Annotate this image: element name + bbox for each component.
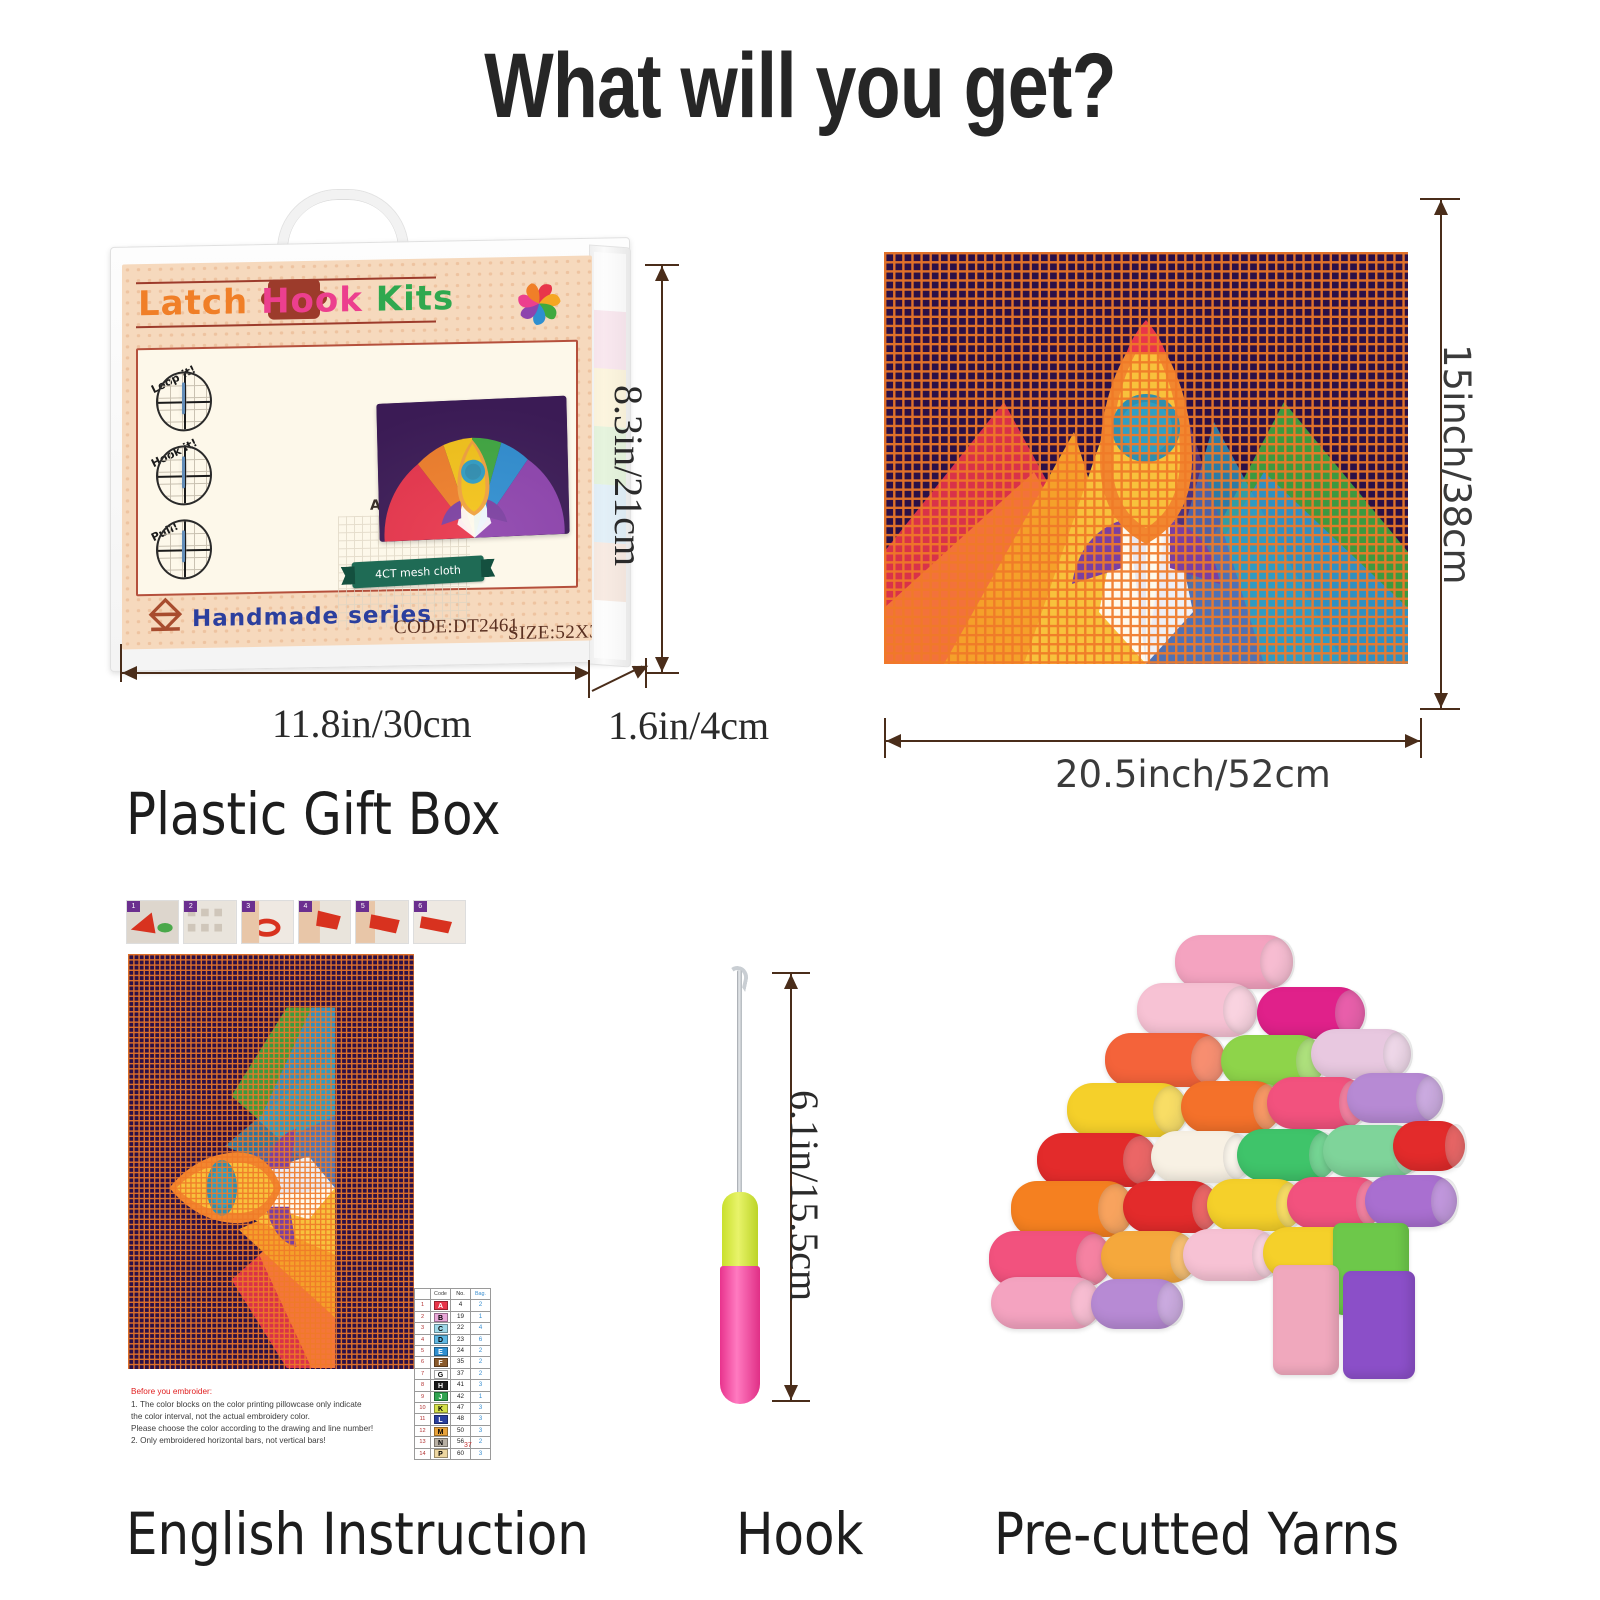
mesh-grid-overlay <box>884 252 1408 664</box>
step-diagram-pull <box>156 519 212 580</box>
cell-bag: 2 <box>471 1368 491 1379</box>
yarn-bundle <box>1123 1181 1219 1233</box>
table-row: 8H413 <box>415 1380 491 1391</box>
yarn-tube-purple <box>1343 1271 1415 1379</box>
cell-bag: 3 <box>471 1414 491 1425</box>
brand-word-latch: Latch <box>138 282 248 324</box>
cell-code: N <box>431 1437 451 1448</box>
notice-line-2: the color interval, not the actual embro… <box>131 1412 310 1421</box>
canvas-height-arrow-down <box>1434 693 1448 708</box>
canvas-width-cap-right <box>1420 718 1422 758</box>
thumbnail-number: 5 <box>356 901 369 912</box>
step-diagram-loop <box>156 371 212 432</box>
cell-bag: 3 <box>471 1403 491 1414</box>
box-width-label: 11.8in/30cm <box>272 700 472 747</box>
cell-index: 14 <box>415 1448 431 1459</box>
cell-code: E <box>431 1346 451 1357</box>
color-swatch: B <box>434 1313 448 1322</box>
cell-code: C <box>431 1323 451 1334</box>
table-row: 11L483 <box>415 1414 491 1425</box>
box-height-arrow-down <box>655 657 669 672</box>
cell-number: 23 <box>451 1334 471 1345</box>
hook-handle-upper <box>722 1192 758 1270</box>
color-swatch: M <box>434 1427 448 1436</box>
box-depth-label: 1.6in/4cm <box>608 702 769 749</box>
cell-index: 9 <box>415 1391 431 1402</box>
cell-number: 4 <box>451 1300 471 1311</box>
before-you-embroider-notice: Before you embroider: 1. The color block… <box>131 1386 417 1446</box>
cell-bag: 1 <box>471 1391 491 1402</box>
thumbnail-step: 5 <box>355 900 408 944</box>
cell-number: 19 <box>451 1311 471 1322</box>
thumbnail-number: 2 <box>184 901 197 912</box>
cell-code: D <box>431 1334 451 1345</box>
color-swatch: P <box>434 1449 448 1458</box>
box-height-label: 8.3in/21cm <box>605 385 652 566</box>
cell-bag: 3 <box>471 1380 491 1391</box>
thumbnail-number: 3 <box>242 901 255 912</box>
color-swatch: J <box>434 1392 448 1401</box>
cell-index: 13 <box>415 1437 431 1448</box>
canvas-width-line <box>886 740 1420 742</box>
color-swatch: C <box>434 1324 448 1333</box>
yarn-bundle <box>1011 1181 1133 1237</box>
step-diagram-hook <box>156 445 212 506</box>
yarn-bundle <box>1037 1133 1157 1187</box>
instruction-sheet-figure: 1 2 3 4 5 6 <box>126 900 496 1460</box>
caption-yarns: Pre-cutted Yarns <box>994 1500 1399 1568</box>
step-thumbnail-strip: 1 2 3 4 5 6 <box>126 900 466 948</box>
printed-canvas-figure <box>884 252 1408 664</box>
brand-title: Latch Hook Kits <box>138 278 454 324</box>
color-swatch: E <box>434 1347 448 1356</box>
cell-bag: 6 <box>471 1334 491 1345</box>
cell-bag: 2 <box>471 1357 491 1368</box>
thumbnail-step: 1 <box>126 900 179 944</box>
box-width-arrow-right <box>575 666 590 680</box>
chart-grid-overlay <box>128 954 414 1369</box>
cell-code: F <box>431 1357 451 1368</box>
caption-hook: Hook <box>736 1500 863 1568</box>
cell-code: H <box>431 1380 451 1391</box>
color-swatch: K <box>434 1404 448 1413</box>
canvas-height-cap-bottom <box>1420 708 1460 710</box>
instruction-panel: Loop it! Hook it! Pull! AGE+6 ! 4CT mesh… <box>136 340 578 596</box>
cell-index: 12 <box>415 1425 431 1436</box>
yarn-bundle <box>991 1277 1101 1329</box>
cell-code: P <box>431 1448 451 1459</box>
color-swatch: H <box>434 1381 448 1390</box>
notice-line-3: Please choose the color according to the… <box>131 1424 373 1433</box>
cell-code: K <box>431 1403 451 1414</box>
cell-number: 24 <box>451 1346 471 1357</box>
hook-length-arrow-up <box>784 974 798 989</box>
box-front-artwork: Latch Hook Kits Loop it! <box>122 255 592 649</box>
yarn-bundle <box>1393 1121 1465 1171</box>
notice-line-4: 2. Only embroidered horizontal bars, not… <box>131 1436 326 1445</box>
cell-number: 50 <box>451 1425 471 1436</box>
infographic-page: What will you get? Latch Hook Kits <box>0 0 1600 1600</box>
yarn-bundle <box>1365 1175 1457 1227</box>
table-total: 37 <box>464 1442 472 1449</box>
color-swatch: F <box>434 1358 448 1367</box>
thumbnail-step: 6 <box>413 900 466 944</box>
brand-word-kits: Kits <box>376 278 455 320</box>
cell-code: J <box>431 1391 451 1402</box>
box-height-line <box>661 266 663 672</box>
yarn-bundle <box>1067 1083 1187 1137</box>
hook-length-label: 6.1in/15.5cm <box>781 1090 828 1301</box>
cell-number: 35 <box>451 1357 471 1368</box>
page-title: What will you get? <box>160 34 1440 139</box>
brand-word-hook: Hook <box>261 280 363 322</box>
hook-handle-lower <box>720 1266 760 1404</box>
mesh-canvas-image <box>884 252 1408 664</box>
color-swatch: D <box>434 1335 448 1344</box>
yarn-bundles-figure <box>975 925 1475 1420</box>
rug-preview-image <box>376 396 569 542</box>
pinwheel-logo-icon <box>508 272 570 335</box>
caption-gift-box: Plastic Gift Box <box>126 780 501 848</box>
thumbnail-step: 3 <box>241 900 294 944</box>
canvas-width-label: 20.5inch/52cm <box>1055 753 1331 796</box>
cell-index: 1 <box>415 1300 431 1311</box>
thumbnail-step: 4 <box>298 900 351 944</box>
table-row: 14P603 <box>415 1448 491 1459</box>
cell-index: 3 <box>415 1323 431 1334</box>
cell-index: 11 <box>415 1414 431 1425</box>
th-index <box>415 1289 431 1300</box>
yarn-bundle <box>1105 1033 1225 1087</box>
canvas-height-label: 15inch/38cm <box>1435 344 1478 585</box>
notice-heading: Before you embroider: <box>131 1386 417 1398</box>
cell-bag: 2 <box>471 1346 491 1357</box>
thumbnail-step: 2 <box>183 900 236 944</box>
cell-bag: 1 <box>471 1311 491 1322</box>
cell-index: 10 <box>415 1403 431 1414</box>
yarn-bundle <box>1311 1029 1411 1079</box>
cell-number: 42 <box>451 1391 471 1402</box>
gift-box-figure: Latch Hook Kits Loop it! <box>100 190 660 690</box>
cell-code: L <box>431 1414 451 1425</box>
color-code-table-body: 1A422B1913C2244D2365E2426F3527G3728H4139… <box>415 1300 491 1460</box>
cell-code: M <box>431 1425 451 1436</box>
table-row: 4D236 <box>415 1334 491 1345</box>
thumbnail-number: 1 <box>127 901 140 912</box>
notice-line-1: 1. The color blocks on the color printin… <box>131 1400 362 1409</box>
cell-index: 6 <box>415 1357 431 1368</box>
cell-index: 7 <box>415 1368 431 1379</box>
cell-number: 48 <box>451 1414 471 1425</box>
cell-number: 60 <box>451 1448 471 1459</box>
box-height-arrow-up <box>655 266 669 281</box>
canvas-width-arrow-right <box>1405 734 1420 748</box>
printed-chart-image <box>128 954 414 1369</box>
thumbnail-number: 4 <box>299 901 312 912</box>
table-row: 1A42 <box>415 1300 491 1311</box>
th-code: Code <box>431 1289 451 1300</box>
yarn-bundle <box>1237 1129 1337 1181</box>
table-row: 12M503 <box>415 1425 491 1436</box>
yarn-bundle <box>1175 935 1293 989</box>
color-swatch: A <box>434 1301 448 1310</box>
zigzag-decoration-icon: ⎒ <box>148 593 192 638</box>
hook-needle <box>737 970 742 1200</box>
table-row: 13N562 <box>415 1437 491 1448</box>
hook-length-arrow-down <box>784 1385 798 1400</box>
color-swatch: N <box>434 1438 448 1447</box>
table-row: 9J421 <box>415 1391 491 1402</box>
yarn-bundle <box>1151 1131 1251 1183</box>
yarn-bundle <box>1091 1279 1183 1329</box>
cell-number: 37 <box>451 1368 471 1379</box>
table-row: 3C224 <box>415 1323 491 1334</box>
table-header-row: Code No. Bag. <box>415 1289 491 1300</box>
table-row: 2B191 <box>415 1311 491 1322</box>
color-swatch: L <box>434 1415 448 1424</box>
thumbnail-number: 6 <box>414 901 427 912</box>
cell-bag: 4 <box>471 1323 491 1334</box>
th-bag: Bag. <box>471 1289 491 1300</box>
product-code: CODE:DT2461 <box>394 615 519 639</box>
cell-bag: 3 <box>471 1448 491 1459</box>
cell-index: 4 <box>415 1334 431 1345</box>
table-row: 7G372 <box>415 1368 491 1379</box>
color-swatch: G <box>434 1370 448 1379</box>
cell-bag: 2 <box>471 1300 491 1311</box>
canvas-width-arrow-left <box>886 734 901 748</box>
color-code-table: Code No. Bag. 1A422B1913C2244D2365E2426F… <box>414 1288 491 1460</box>
cell-code: A <box>431 1300 451 1311</box>
yarn-bundle <box>1347 1073 1443 1123</box>
cell-number: 41 <box>451 1380 471 1391</box>
cell-bag: 2 <box>471 1437 491 1448</box>
box-width-line <box>122 672 590 674</box>
canvas-height-arrow-up <box>1434 200 1448 215</box>
box-width-arrow-left <box>122 666 137 680</box>
yarn-tube-pink <box>1273 1265 1339 1375</box>
th-no: No. <box>451 1289 471 1300</box>
hook-length-cap-bottom <box>772 1400 810 1402</box>
cell-index: 8 <box>415 1380 431 1391</box>
cell-index: 2 <box>415 1311 431 1322</box>
yarn-bundle <box>1137 983 1257 1037</box>
cell-number: 22 <box>451 1323 471 1334</box>
table-row: 6F352 <box>415 1357 491 1368</box>
cell-index: 5 <box>415 1346 431 1357</box>
cell-bag: 3 <box>471 1425 491 1436</box>
table-row: 5E242 <box>415 1346 491 1357</box>
table-row: 10K473 <box>415 1403 491 1414</box>
cell-code: G <box>431 1368 451 1379</box>
cell-number: 47 <box>451 1403 471 1414</box>
caption-english-instruction: English Instruction <box>126 1500 589 1568</box>
cell-code: B <box>431 1311 451 1322</box>
yarn-bundle <box>1181 1081 1281 1133</box>
